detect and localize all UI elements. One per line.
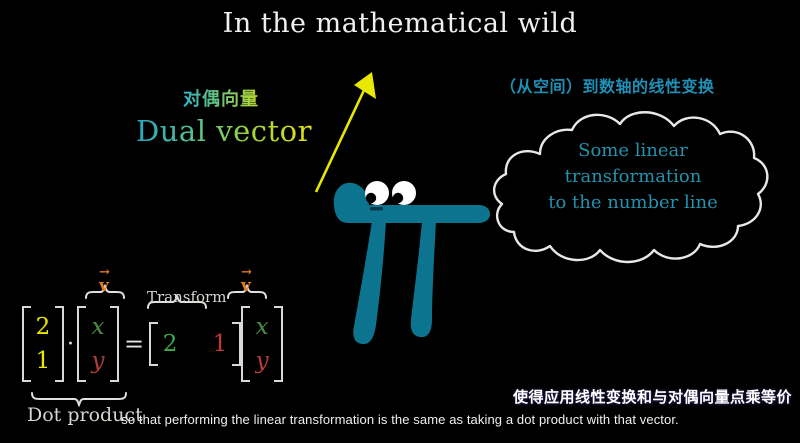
transform-first: 2 bbox=[156, 327, 184, 361]
v2-top: x bbox=[248, 310, 276, 344]
dual-vector-top: 2 bbox=[29, 310, 57, 344]
dual-vector-chinese-label: 对偶向量 bbox=[183, 85, 259, 111]
equation-row: 2 1 · x y = 2 1 x y bbox=[22, 298, 283, 390]
dual-vector-english-label: Dual vector bbox=[136, 114, 312, 148]
subtitle-chinese: 使得应用线性变换和与对偶向量点乘等价 bbox=[513, 386, 792, 407]
v1-top: x bbox=[84, 310, 112, 344]
linear-transform-chinese-heading: （从空间）到数轴的线性变换 bbox=[500, 73, 715, 97]
equals-sign: = bbox=[119, 330, 149, 358]
dual-vector-bottom: 1 bbox=[29, 344, 57, 378]
dual-vector-arrow-icon bbox=[316, 72, 376, 192]
pi-eyes bbox=[365, 181, 416, 205]
dual-vector-matrix: 2 1 bbox=[22, 306, 64, 382]
pi-body bbox=[334, 183, 490, 344]
transform-matrix: 2 1 bbox=[149, 322, 241, 366]
v1-bottom: y bbox=[84, 344, 112, 378]
v-vector-matrix-2: x y bbox=[241, 306, 283, 382]
v-arrow-icon-1: → bbox=[99, 269, 109, 277]
v-arrow-icon-2: → bbox=[241, 269, 251, 277]
v-label-1: → v bbox=[99, 276, 109, 296]
page-title: In the mathematical wild bbox=[0, 8, 800, 39]
v-vector-matrix-1: x y bbox=[77, 306, 119, 382]
subtitle-english: so that performing the linear transforma… bbox=[0, 412, 800, 427]
transform-second: 1 bbox=[206, 327, 234, 361]
cloud-line-1: Some linear bbox=[482, 138, 784, 164]
cloud-line-2: transformation bbox=[482, 164, 784, 190]
v2-bottom: y bbox=[248, 344, 276, 378]
v-label-2: → v bbox=[241, 276, 251, 296]
cloud-text: Some linear transformation to the number… bbox=[482, 138, 784, 216]
video-frame: In the mathematical wild 对偶向量 Dual vecto… bbox=[0, 0, 800, 443]
thought-cloud: Some linear transformation to the number… bbox=[482, 104, 784, 276]
cloud-line-3: to the number line bbox=[482, 190, 784, 216]
dot-operator: · bbox=[64, 340, 77, 350]
transform-label: Transform bbox=[147, 288, 226, 306]
